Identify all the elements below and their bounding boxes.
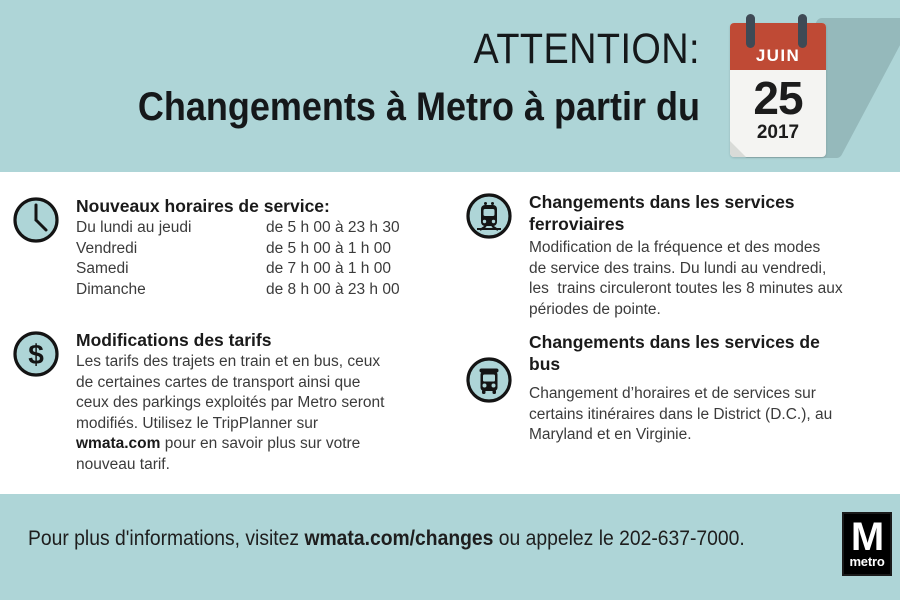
bus-text: Changements dans les services de bus Cha… bbox=[529, 332, 899, 446]
fares-link-suffix: pour en savoir plus sur votre bbox=[160, 435, 360, 452]
fares-body-line: modifiés. Utilisez le TripPlanner sur bbox=[76, 414, 442, 435]
page-title: Changements à Metro à partir du bbox=[70, 82, 700, 132]
schedule-hours: de 5 h 00 à 23 h 30 bbox=[266, 218, 400, 239]
fares-text: Modifications des tarifs Les tarifs des … bbox=[76, 330, 442, 475]
footer-suffix: ou appelez le 202-637-7000. bbox=[493, 527, 744, 550]
calendar-body: JUIN 25 2017 bbox=[730, 23, 826, 157]
schedule-text: Nouveaux horaires de service: Du lundi a… bbox=[76, 196, 442, 300]
fares-link-line: wmata.com pour en savoir plus sur votre bbox=[76, 434, 442, 455]
table-row: Vendredi de 5 h 00 à 1 h 00 bbox=[76, 239, 442, 260]
schedule-hours: de 5 h 00 à 1 h 00 bbox=[266, 239, 391, 260]
metro-logo: M metro bbox=[842, 512, 892, 576]
calendar-month-label: JUIN bbox=[756, 46, 800, 66]
svg-text:$: $ bbox=[28, 339, 44, 370]
attention-heading: ATTENTION: bbox=[84, 24, 700, 74]
footer-prefix: Pour plus d'informations, visitez bbox=[28, 527, 304, 550]
footer-link[interactable]: wmata.com/changes bbox=[304, 527, 493, 550]
schedule-hours: de 7 h 00 à 1 h 00 bbox=[266, 259, 391, 280]
calendar-month-band: JUIN bbox=[730, 23, 826, 70]
fares-title: Modifications des tarifs bbox=[76, 330, 442, 351]
calendar-pin-right bbox=[798, 14, 807, 48]
bus-body-line: Changement d’horaires et de services sur bbox=[529, 384, 899, 405]
calendar-year-label: 2017 bbox=[730, 123, 826, 143]
right-column: Changements dans les services ferroviair… bbox=[455, 172, 900, 494]
infographic-poster: ATTENTION: Changements à Metro à partir … bbox=[0, 0, 900, 600]
bus-title-line1: Changements dans les services de bbox=[529, 332, 899, 353]
schedule-title: Nouveaux horaires de service: bbox=[76, 196, 442, 217]
calendar-icon: JUIN 25 2017 bbox=[728, 8, 888, 166]
schedule-hours: de 8 h 00 à 23 h 00 bbox=[266, 280, 400, 301]
table-row: Du lundi au jeudi de 5 h 00 à 23 h 30 bbox=[76, 218, 442, 239]
content-area: Nouveaux horaires de service: Du lundi a… bbox=[0, 172, 900, 494]
schedule-day: Vendredi bbox=[76, 239, 137, 260]
schedule-table: Du lundi au jeudi de 5 h 00 à 23 h 30 Ve… bbox=[76, 218, 442, 300]
fares-body-line: de certaines cartes de transport ainsi q… bbox=[76, 373, 442, 394]
footer-text: Pour plus d'informations, visitez wmata.… bbox=[28, 527, 745, 551]
bus-body-line: certains itinéraires dans le District (D… bbox=[529, 405, 899, 426]
clock-icon bbox=[12, 196, 60, 244]
metro-logo-letter: M bbox=[851, 519, 883, 555]
schedule-day: Dimanche bbox=[76, 280, 146, 301]
fares-body-line: nouveau tarif. bbox=[76, 455, 442, 476]
rail-title-line1: Changements dans les services bbox=[529, 192, 897, 213]
bus-icon bbox=[465, 356, 513, 404]
header-band: ATTENTION: Changements à Metro à partir … bbox=[0, 0, 900, 172]
schedule-day: Samedi bbox=[76, 259, 129, 280]
table-row: Samedi de 7 h 00 à 1 h 00 bbox=[76, 259, 442, 280]
rail-text: Changements dans les services ferroviair… bbox=[529, 192, 897, 320]
bus-body-line: Maryland et en Virginie. bbox=[529, 425, 899, 446]
calendar-day-label: 25 bbox=[730, 74, 826, 122]
fares-body-line: Les tarifs des trajets en train et en bu… bbox=[76, 352, 442, 373]
headline-block: ATTENTION: Changements à Metro à partir … bbox=[0, 24, 700, 132]
rail-body-line: Modification de la fréquence et des mode… bbox=[529, 238, 897, 259]
fares-body-line: ceux des parkings exploités par Metro se… bbox=[76, 393, 442, 414]
schedule-day: Du lundi au jeudi bbox=[76, 218, 191, 239]
rail-body-line: périodes de pointe. bbox=[529, 300, 897, 321]
metro-logo-word: metro bbox=[849, 555, 884, 569]
train-icon bbox=[465, 192, 513, 240]
calendar-pin-left bbox=[746, 14, 755, 48]
table-row: Dimanche de 8 h 00 à 23 h 00 bbox=[76, 280, 442, 301]
bus-title-line2: bus bbox=[529, 354, 899, 375]
left-column: Nouveaux horaires de service: Du lundi a… bbox=[0, 172, 455, 494]
footer-band: Pour plus d'informations, visitez wmata.… bbox=[0, 494, 900, 600]
rail-body-line: de service des trains. Du lundi au vendr… bbox=[529, 259, 897, 280]
wmata-link[interactable]: wmata.com bbox=[76, 435, 160, 452]
rail-body-line: les trains circuleront toutes les 8 minu… bbox=[529, 279, 897, 300]
calendar-corner-fold bbox=[730, 141, 746, 157]
rail-title-line2: ferroviaires bbox=[529, 214, 897, 235]
dollar-icon: $ bbox=[12, 330, 60, 378]
